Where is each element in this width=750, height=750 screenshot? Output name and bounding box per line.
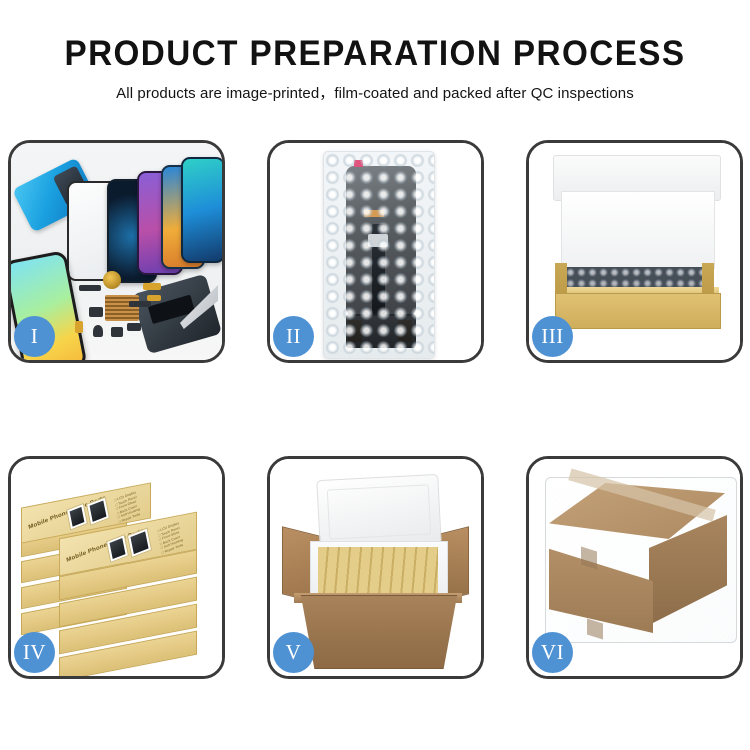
flex-cable-icon — [129, 301, 151, 307]
label-sticker-icon — [354, 160, 363, 167]
phone-thumb-icon — [106, 534, 129, 563]
copper-coil-icon — [103, 271, 121, 289]
foam-sheet-icon — [561, 191, 715, 269]
process-step-card-vi: VI — [526, 456, 743, 679]
step-badge-iii: III — [532, 316, 573, 357]
page-subtitle: All products are image-printed，film-coat… — [0, 84, 750, 103]
speaker-mesh-icon — [105, 295, 139, 321]
step-badge-vi: VI — [532, 632, 573, 673]
chip-icon — [89, 307, 103, 317]
process-step-card-v: V — [267, 456, 484, 679]
sim-tray-icon — [75, 321, 83, 333]
phone-teal-icon — [181, 157, 222, 263]
box-checklist: □ LCD Display □ Touch Panel □ Front Glas… — [157, 521, 184, 556]
bubble-wrap-bag-icon — [323, 151, 435, 359]
box-checklist: □ LCD Display □ Touch Panel □ Front Glas… — [114, 490, 141, 525]
carton-body-icon — [294, 595, 464, 669]
chip-icon — [79, 285, 101, 291]
process-step-card-ii: II — [267, 140, 484, 363]
header: PRODUCT PREPARATION PROCESS All products… — [0, 0, 750, 118]
gold-connector-icon — [143, 283, 161, 290]
tape-icon — [364, 210, 384, 217]
process-step-card-iii: III — [526, 140, 743, 363]
connector-strip-icon — [346, 314, 416, 348]
phone-thumb-icon — [66, 503, 88, 531]
page-title: PRODUCT PREPARATION PROCESS — [19, 34, 732, 74]
button-icon — [93, 325, 103, 337]
process-step-grid: I II — [8, 140, 742, 740]
box-front-icon — [555, 293, 721, 329]
process-step-card-iv: Mobile Phone Spare Parts □ LCD Display □… — [8, 456, 225, 679]
connector-icon — [368, 234, 388, 247]
foam-lid-icon — [316, 474, 441, 550]
chip-icon — [127, 323, 141, 331]
step-badge-v: V — [273, 632, 314, 673]
chip-icon — [111, 327, 123, 337]
product-preparation-infographic: PRODUCT PREPARATION PROCESS All products… — [0, 0, 750, 750]
step-badge-iv: IV — [14, 632, 55, 673]
process-step-card-i: I — [8, 140, 225, 363]
kraft-boxes-inside-icon — [318, 547, 438, 593]
step-badge-i: I — [14, 316, 55, 357]
step-badge-ii: II — [273, 316, 314, 357]
